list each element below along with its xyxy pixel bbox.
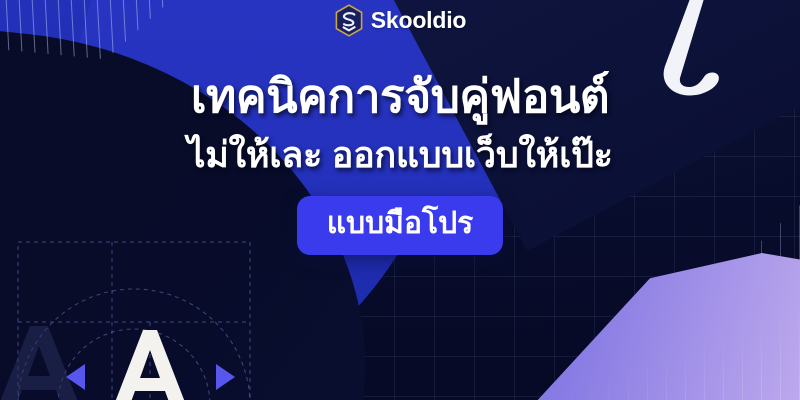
kerning-arrow-right-icon: [216, 364, 235, 390]
badge-pill: แบบมือโปร: [297, 196, 503, 255]
headline-block: เทคนิคการจับคู่ฟอนต์ ไม่ให้เละ ออกแบบเว็…: [0, 70, 800, 255]
headline-title: เทคนิคการจับคู่ฟอนต์: [191, 70, 609, 122]
brand-logo-lockup: Skooldio: [0, 4, 800, 37]
skooldio-hexagon-stack-logo-icon: [334, 4, 364, 37]
kerning-arrow-left-icon: [66, 364, 85, 390]
brand-wordmark: Skooldio: [371, 9, 467, 32]
letter-a-glyph: [110, 330, 190, 400]
promo-banner: Skooldio เทคนิคการจับคู่ฟอนต์ ไม่ให้เละ …: [0, 0, 800, 400]
headline-subtitle: ไม่ให้เละ ออกแบบเว็บให้เป๊ะ: [187, 134, 612, 176]
